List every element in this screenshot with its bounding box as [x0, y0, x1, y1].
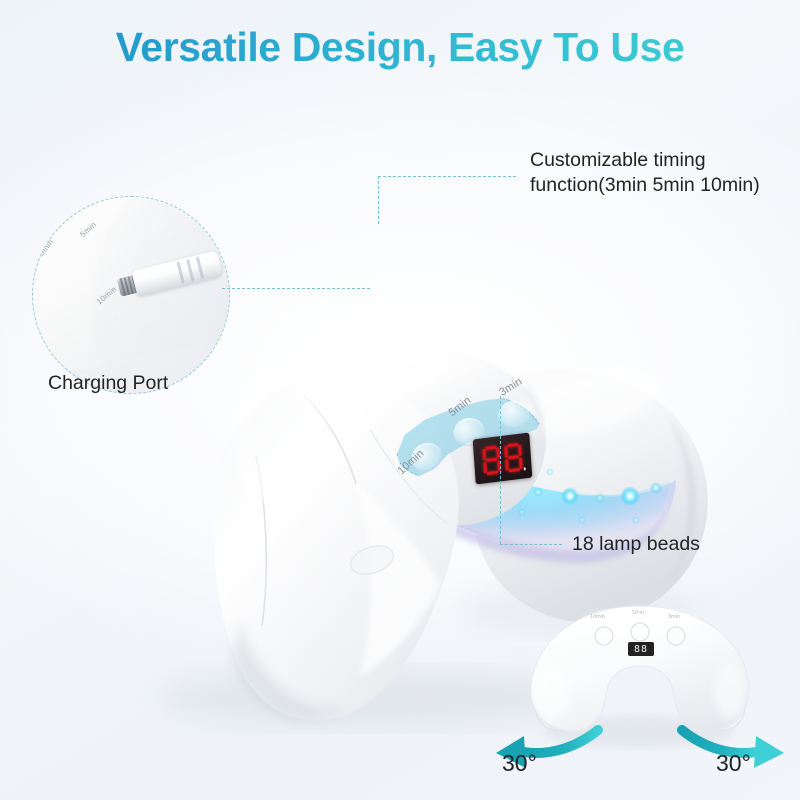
- inset-label-3min: 3min: [668, 614, 680, 620]
- led-display: 88: [473, 433, 533, 485]
- charging-port-label: Charging Port: [48, 372, 168, 395]
- leader-timing-horizontal: [378, 176, 516, 177]
- inset-led-display: 88: [628, 642, 654, 656]
- timing-annotation-line1: Customizable timing: [530, 148, 760, 173]
- rotation-angle-right: 30°: [716, 750, 751, 777]
- led-digit-1: [482, 445, 501, 475]
- leader-timing-vertical: [378, 176, 379, 224]
- timing-annotation: Customizable timing function(3min 5min 1…: [530, 148, 760, 198]
- lamp-beads-annotation: 18 lamp beads: [572, 532, 700, 557]
- led-digit-2: [504, 442, 523, 472]
- inset-led-value: 88: [634, 644, 648, 655]
- rotation-inset: 30° 30° 88 10min 5min 3min: [490, 592, 790, 792]
- leader-lamp-vertical: [500, 396, 501, 544]
- inset-label-5min: 5min: [632, 610, 644, 616]
- inset-label-10min: 10min: [590, 614, 605, 620]
- timing-annotation-line2: function(3min 5min 10min): [530, 173, 760, 198]
- charging-port-inset: 5min 3min 10min: [32, 196, 230, 394]
- infographic-canvas: Versatile Design, Easy To Use: [0, 0, 800, 800]
- page-title: Versatile Design, Easy To Use: [0, 24, 800, 71]
- leader-lamp-horizontal: [500, 544, 562, 545]
- rotation-angle-left: 30°: [502, 750, 537, 777]
- leader-charging-port: [222, 288, 370, 289]
